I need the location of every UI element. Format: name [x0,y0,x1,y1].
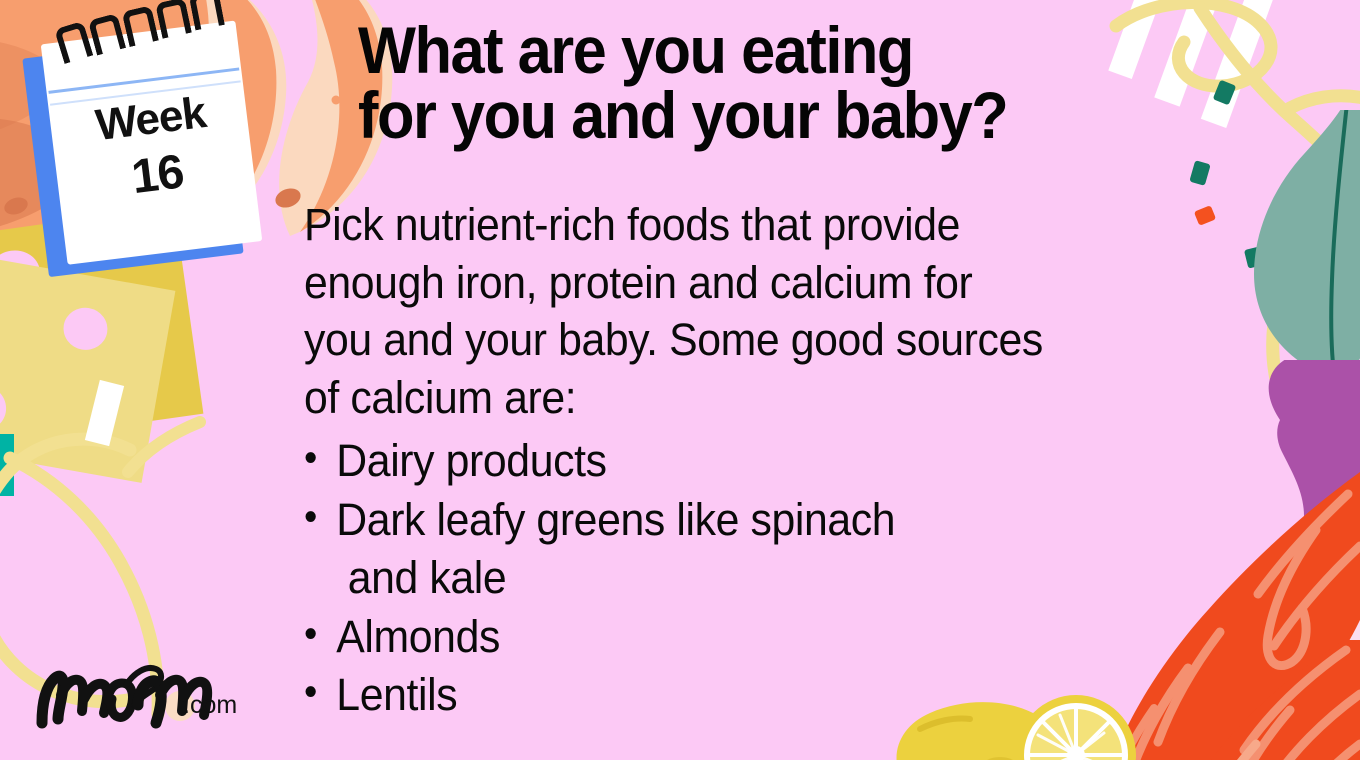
list-item-label: Lentils [336,666,457,725]
calcium-sources-list: • Dairy products • Dark leafy greens lik… [304,432,1245,725]
list-item-label-continued: and kale [336,549,506,608]
list-item-continuation: and kale [304,549,1245,608]
bullet-marker-icon: • [304,666,336,718]
logo-tld-label: .com [183,691,237,720]
bullet-marker-icon: • [304,491,336,543]
page-title: What are you eating for you and your bab… [358,18,1102,149]
list-item-label: Dark leafy greens like spinach [336,491,895,550]
list-item: • Dairy products [304,432,1245,491]
list-item-label: Almonds [336,608,500,667]
list-item: • Almonds [304,608,1245,667]
list-item: • Dark leafy greens like spinach [304,491,1245,550]
body-paragraph: Pick nutrient-rich foods that provide en… [304,196,1235,426]
list-item-label: Dairy products [336,432,606,491]
bullet-marker-icon: • [304,608,336,660]
promo-card: Week 16 What are you eating for you and … [0,0,1360,760]
week-calendar-icon: Week 16 [20,9,279,285]
list-item: • Lentils [304,666,1245,725]
mom-dot-com-logo[interactable]: .com [34,655,254,735]
bullet-marker-icon: • [304,432,336,484]
